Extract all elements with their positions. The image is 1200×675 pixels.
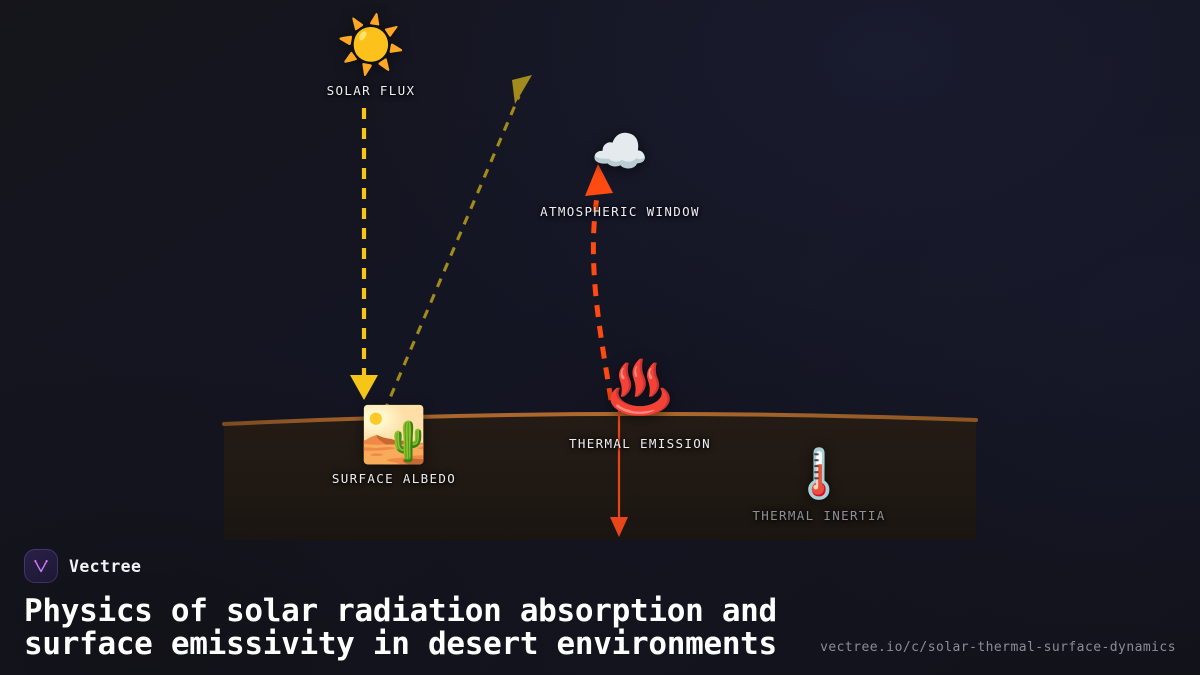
vectree-v-logo-icon — [24, 549, 58, 583]
node-atmospheric-window[interactable]: ☁️ ATMOSPHERIC WINDOW — [540, 128, 700, 219]
node-thermal-inertia[interactable]: 🌡️ THERMAL INERTIA — [752, 450, 885, 523]
footer: Vectree Physics of solar radiation absor… — [0, 549, 1200, 675]
node-label-surface-albedo: SURFACE ALBEDO — [332, 471, 456, 486]
page-title: Physics of solar radiation absorption an… — [24, 595, 844, 661]
brand-lockup[interactable]: Vectree — [24, 549, 1176, 583]
node-label-thermal-emission: THERMAL EMISSION — [569, 436, 711, 451]
sun-icon: ☀️ — [336, 18, 406, 74]
brand-name: Vectree — [69, 557, 141, 576]
incoming-solar-flux-arrow — [350, 108, 378, 400]
node-label-thermal-inertia: THERMAL INERTIA — [752, 508, 885, 523]
vectree-v-glyph — [31, 556, 51, 576]
source-url: vectree.io/c/solar-thermal-surface-dynam… — [820, 640, 1176, 655]
node-solar-flux[interactable]: ☀️ SOLAR FLUX — [327, 18, 416, 98]
infographic-canvas: ☀️ SOLAR FLUX ☁️ ATMOSPHERIC WINDOW 🏜️ S… — [0, 0, 1200, 675]
cloud-icon: ☁️ — [591, 128, 648, 174]
node-label-atmospheric-window: ATMOSPHERIC WINDOW — [540, 204, 700, 219]
desert-icon: 🏜️ — [360, 408, 427, 462]
node-label-solar-flux: SOLAR FLUX — [327, 83, 416, 98]
hot-springs-icon: ♨️ — [608, 362, 673, 414]
node-thermal-emission[interactable]: ♨️ THERMAL EMISSION — [569, 362, 711, 451]
node-surface-albedo[interactable]: 🏜️ SURFACE ALBEDO — [332, 408, 456, 486]
thermometer-icon: 🌡️ — [789, 450, 849, 498]
reflected-albedo-arrow — [384, 75, 532, 412]
